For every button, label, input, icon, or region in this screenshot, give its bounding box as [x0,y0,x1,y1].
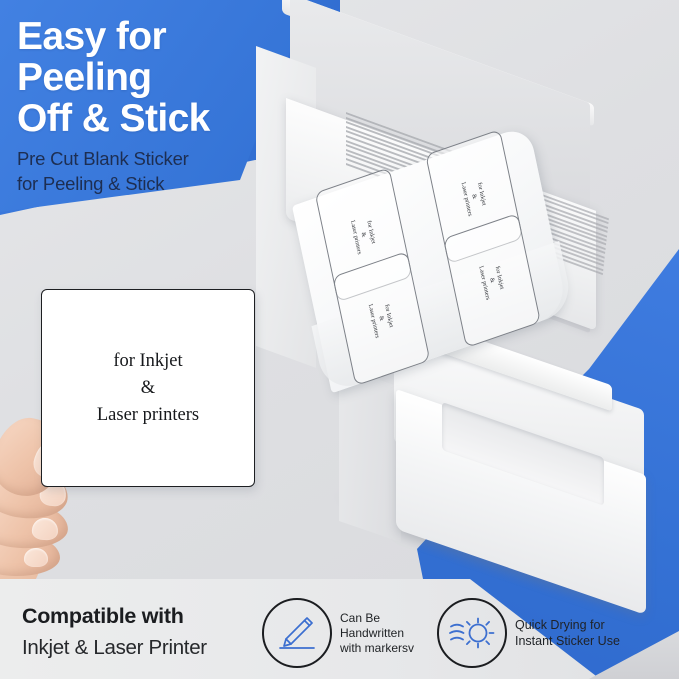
card-line-2: & [141,375,155,402]
sample-label-card: for Inkjet & Laser printers [41,289,255,487]
feature-text-line-3: with markersv [340,641,414,656]
printer-base-side [339,366,401,542]
headline-line-2: Peeling [17,57,297,98]
product-banner: for Inkjet & Laser printers for Inkjet &… [0,0,679,679]
headline: Easy for Peeling Off & Stick [17,16,297,139]
subheadline-line-2: for Peeling & Stick [17,171,317,196]
feature-icon-circle [262,598,332,668]
fingernail [24,548,48,567]
compatibility-line-2: Inkjet & Laser Printer [22,636,282,660]
card-line-3: Laser printers [97,402,199,429]
feature-icon-circle [437,598,507,668]
feature-text-line-2: Instant Sticker Use [515,633,620,649]
feature-text-line-2: Handwritten [340,626,414,641]
sun-drying-icon [448,612,496,654]
sticker-label-line2: & [488,277,497,284]
sticker-label-line2: & [470,193,479,200]
headline-line-3: Off & Stick [17,98,297,139]
compatibility-text: Compatible with Inkjet & Laser Printer [22,604,282,660]
sticker-label-line2: & [359,231,368,238]
card-line-1: for Inkjet [113,348,182,375]
feature-text: Quick Drying for Instant Sticker Use [515,617,620,649]
feature-text-line-1: Quick Drying for [515,617,620,633]
headline-line-1: Easy for [17,16,297,57]
pen-icon [276,613,318,653]
subheadline: Pre Cut Blank Sticker for Peeling & Stic… [17,146,317,196]
sticker-label-line2: & [377,315,386,322]
feature-text: Can Be Handwritten with markersv [340,611,414,656]
feature-handwritten: Can Be Handwritten with markersv [262,598,414,668]
feature-text-line-1: Can Be [340,611,414,626]
subheadline-line-1: Pre Cut Blank Sticker [17,146,317,171]
compatibility-line-1: Compatible with [22,604,282,629]
feature-quick-drying: Quick Drying for Instant Sticker Use [437,598,620,668]
